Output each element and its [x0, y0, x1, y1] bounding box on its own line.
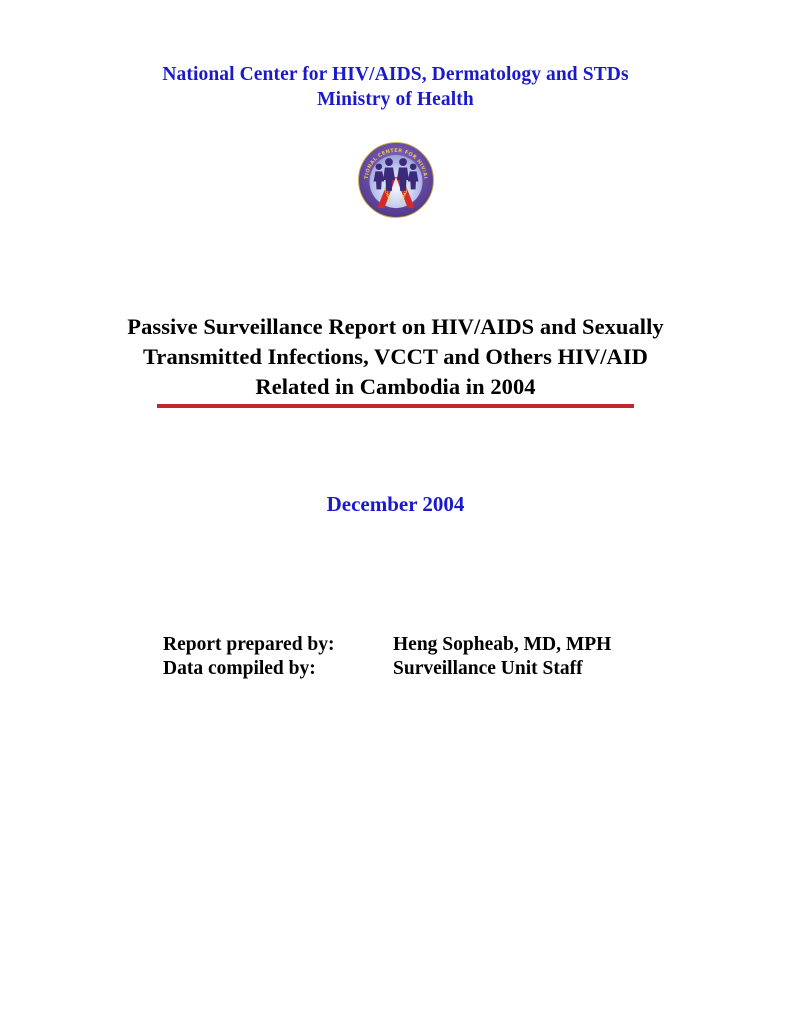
title-divider-container — [0, 404, 791, 422]
credit-row: Report prepared by:Heng Sopheab, MD, MPH — [163, 634, 683, 658]
publication-date: December 2004 — [0, 492, 791, 517]
ministry-name: Ministry of Health — [0, 87, 791, 112]
title-divider — [157, 404, 634, 408]
organization-header: National Center for HIV/AIDS, Dermatolog… — [0, 62, 791, 113]
publication-date-value: December 2004 — [327, 492, 465, 516]
organization-name: National Center for HIV/AIDS, Dermatolog… — [0, 62, 791, 87]
page-title-line-3: Related in Cambodia in 2004 — [95, 372, 696, 402]
logo-container: NATIONAL CENTER FOR HIV/AIDS DERMATOLOGY… — [0, 141, 791, 219]
page-title: Passive Surveillance Report on HIV/AIDS … — [95, 312, 696, 402]
credit-value-prepared-by: Heng Sopheab, MD, MPH — [393, 634, 611, 656]
credit-label-prepared-by: Report prepared by: — [163, 634, 393, 656]
credits-block: Report prepared by:Heng Sopheab, MD, MPH… — [163, 634, 683, 682]
page-title-line-1: Passive Surveillance Report on HIV/AIDS … — [95, 312, 696, 342]
page-title-line-2: Transmitted Infections, VCCT and Others … — [95, 342, 696, 372]
national-center-hiv-aids-emblem-icon: NATIONAL CENTER FOR HIV/AIDS DERMATOLOGY… — [357, 141, 435, 219]
credit-row: Data compiled by:Surveillance Unit Staff — [163, 658, 683, 682]
credit-value-compiled-by: Surveillance Unit Staff — [393, 658, 583, 680]
document-cover-page: National Center for HIV/AIDS, Dermatolog… — [0, 0, 791, 1024]
credit-label-compiled-by: Data compiled by: — [163, 658, 393, 680]
